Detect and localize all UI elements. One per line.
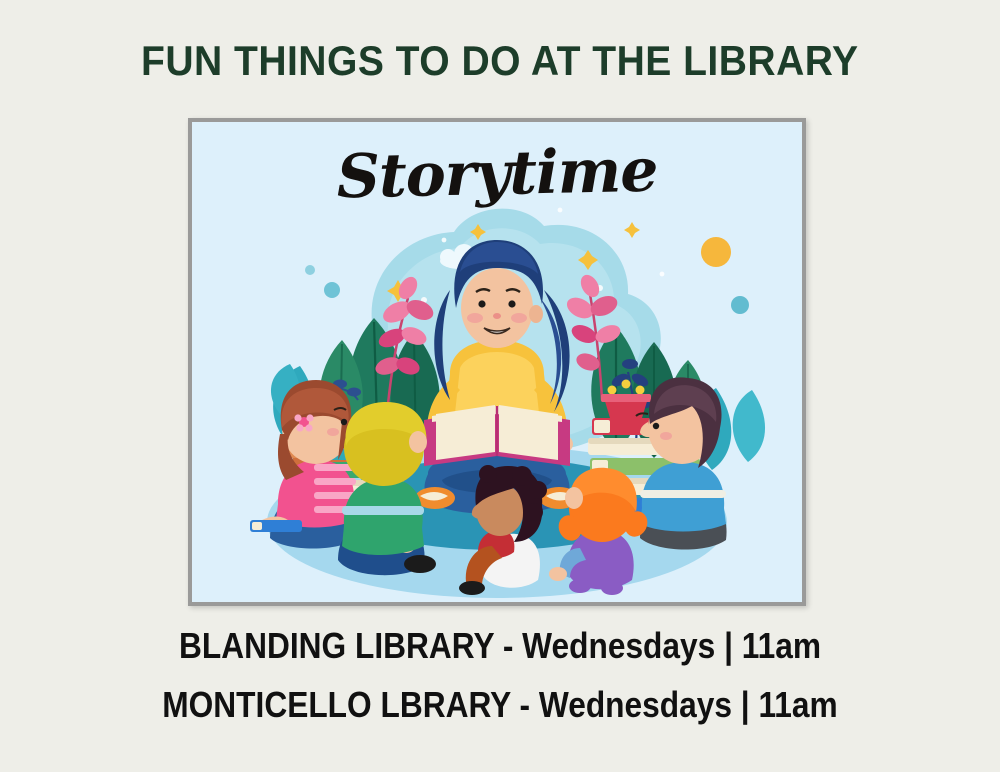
schedule-line-blanding: BLANDING LIBRARY - Wednesdays | 11am — [60, 628, 940, 664]
library-flyer: FUN THINGS TO DO AT THE LIBRARY — [0, 0, 1000, 772]
page-title: FUN THINGS TO DO AT THE LIBRARY — [141, 40, 858, 82]
reader-face — [461, 268, 533, 348]
storytime-poster-image: Storytime — [188, 118, 806, 606]
schedule-line-monticello: MONTICELLO LBRARY - Wednesdays | 11am — [60, 687, 940, 723]
sun-circle — [701, 237, 731, 267]
storytime-script-title: Storytime — [191, 138, 802, 211]
footer-schedule: BLANDING LIBRARY - Wednesdays | 11am MON… — [0, 628, 1000, 723]
poster-canvas: Storytime — [192, 122, 802, 602]
